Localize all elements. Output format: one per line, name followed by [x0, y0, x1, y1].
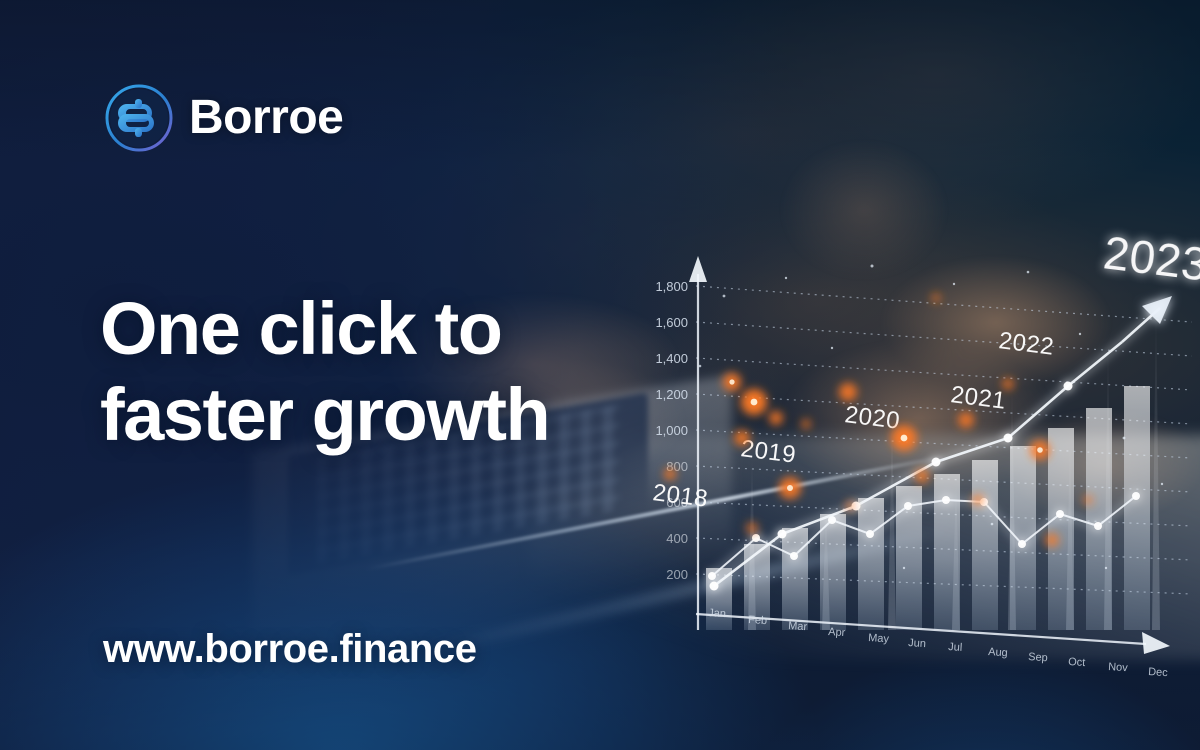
svg-text:Jul: Jul [948, 641, 963, 654]
svg-text:2018: 2018 [651, 479, 709, 513]
page-title: One click to faster growth [100, 286, 720, 458]
svg-text:Dec: Dec [1148, 666, 1169, 679]
svg-text:Sep: Sep [1028, 651, 1048, 664]
svg-text:Jun: Jun [908, 637, 926, 650]
svg-text:Mar: Mar [788, 620, 808, 633]
chart-trend-line-zigzag [708, 492, 1140, 580]
svg-text:Oct: Oct [1068, 656, 1086, 669]
borroe-b-monogram-icon [103, 82, 175, 154]
svg-text:Aug: Aug [988, 646, 1008, 659]
svg-text:Nov: Nov [1108, 661, 1129, 674]
svg-text:Feb: Feb [748, 614, 768, 627]
headline-line-2: faster growth [100, 372, 720, 458]
hud-growth-chart: 1,800 1,600 1,400 1,200 1,000 800 600 40… [636, 238, 1196, 658]
svg-text:200: 200 [666, 567, 688, 582]
svg-text:May: May [868, 632, 890, 645]
borroe-promo-banner: 1,800 1,600 1,400 1,200 1,000 800 600 40… [0, 0, 1200, 750]
svg-text:2022: 2022 [997, 327, 1055, 361]
headline-line-1: One click to [100, 287, 501, 370]
svg-text:2020: 2020 [843, 401, 901, 435]
svg-text:2021: 2021 [949, 381, 1007, 415]
website-url[interactable]: www.borroe.finance [103, 627, 477, 672]
svg-text:2023: 2023 [1101, 226, 1200, 290]
svg-text:Apr: Apr [828, 626, 846, 639]
chart-year-annotations: 2018 2019 2020 2021 2022 2023 [651, 226, 1200, 512]
svg-text:Jan: Jan [708, 607, 726, 620]
brand-logo-lockup[interactable]: Borroe [103, 82, 343, 154]
svg-text:400: 400 [666, 531, 688, 546]
brand-wordmark: Borroe [189, 94, 343, 142]
